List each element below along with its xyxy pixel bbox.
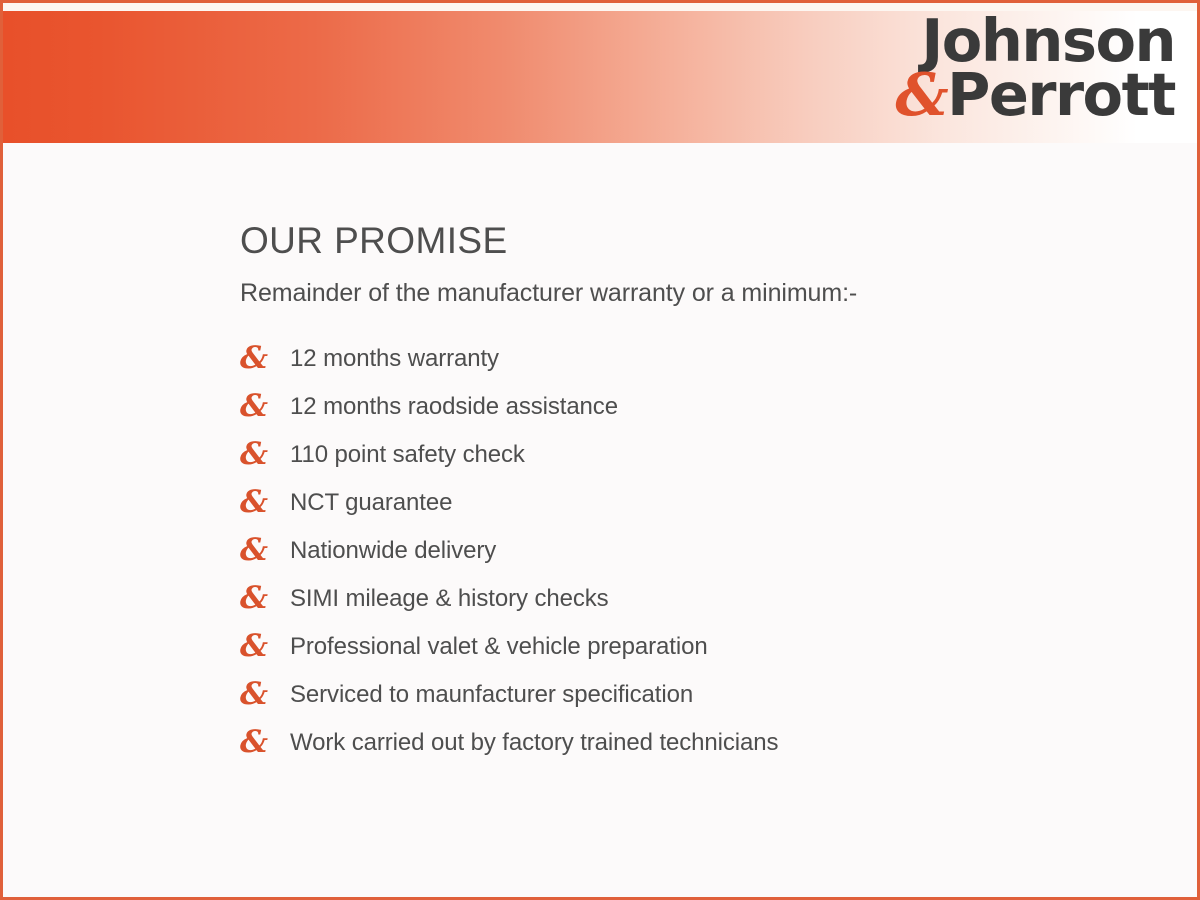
list-item: & Serviced to maunfacturer specification xyxy=(240,671,1157,719)
list-item: & Nationwide delivery xyxy=(240,527,1157,575)
list-item-label: 110 point safety check xyxy=(290,441,525,469)
ampersand-bullet-icon: & xyxy=(240,631,290,662)
list-item-label: Work carried out by factory trained tech… xyxy=(290,729,778,757)
ampersand-bullet-icon: & xyxy=(240,487,290,518)
list-item: & SIMI mileage & history checks xyxy=(240,575,1157,623)
list-item-label: Nationwide delivery xyxy=(290,537,496,565)
list-item: & 110 point safety check xyxy=(240,431,1157,479)
ampersand-bullet-icon: & xyxy=(240,343,290,374)
ampersand-bullet-icon: & xyxy=(240,727,290,758)
company-logo: Johnson &Perrott xyxy=(895,15,1175,121)
logo-ampersand-icon: & xyxy=(895,60,947,129)
ampersand-bullet-icon: & xyxy=(240,439,290,470)
page-title: OUR PROMISE xyxy=(240,221,1157,262)
logo-perrott-text: Perrott xyxy=(947,60,1175,129)
list-item: & 12 months warranty xyxy=(240,335,1157,383)
promise-slide: Johnson &Perrott OUR PROMISE Remainder o… xyxy=(0,0,1200,900)
list-item: & Work carried out by factory trained te… xyxy=(240,719,1157,767)
list-item: & 12 months raodside assistance xyxy=(240,383,1157,431)
ampersand-bullet-icon: & xyxy=(240,679,290,710)
list-item-label: Professional valet & vehicle preparation xyxy=(290,633,708,661)
list-item-label: SIMI mileage & history checks xyxy=(290,585,609,613)
list-item-label: NCT guarantee xyxy=(290,489,452,517)
list-item-label: 12 months warranty xyxy=(290,345,499,373)
promise-content: OUR PROMISE Remainder of the manufacture… xyxy=(240,221,1157,767)
list-item: & NCT guarantee xyxy=(240,479,1157,527)
list-item-label: 12 months raodside assistance xyxy=(290,393,618,421)
ampersand-bullet-icon: & xyxy=(240,583,290,614)
list-item-label: Serviced to maunfacturer specification xyxy=(290,681,693,709)
header-inner: Johnson &Perrott xyxy=(3,11,1197,143)
list-item: & Professional valet & vehicle preparati… xyxy=(240,623,1157,671)
ampersand-bullet-icon: & xyxy=(240,535,290,566)
page-subtitle: Remainder of the manufacturer warranty o… xyxy=(240,278,1157,308)
promise-list: & 12 months warranty & 12 months raodsid… xyxy=(240,335,1157,767)
header-banner: Johnson &Perrott xyxy=(3,11,1197,143)
ampersand-bullet-icon: & xyxy=(240,391,290,422)
logo-line-perrott: &Perrott xyxy=(895,69,1175,121)
